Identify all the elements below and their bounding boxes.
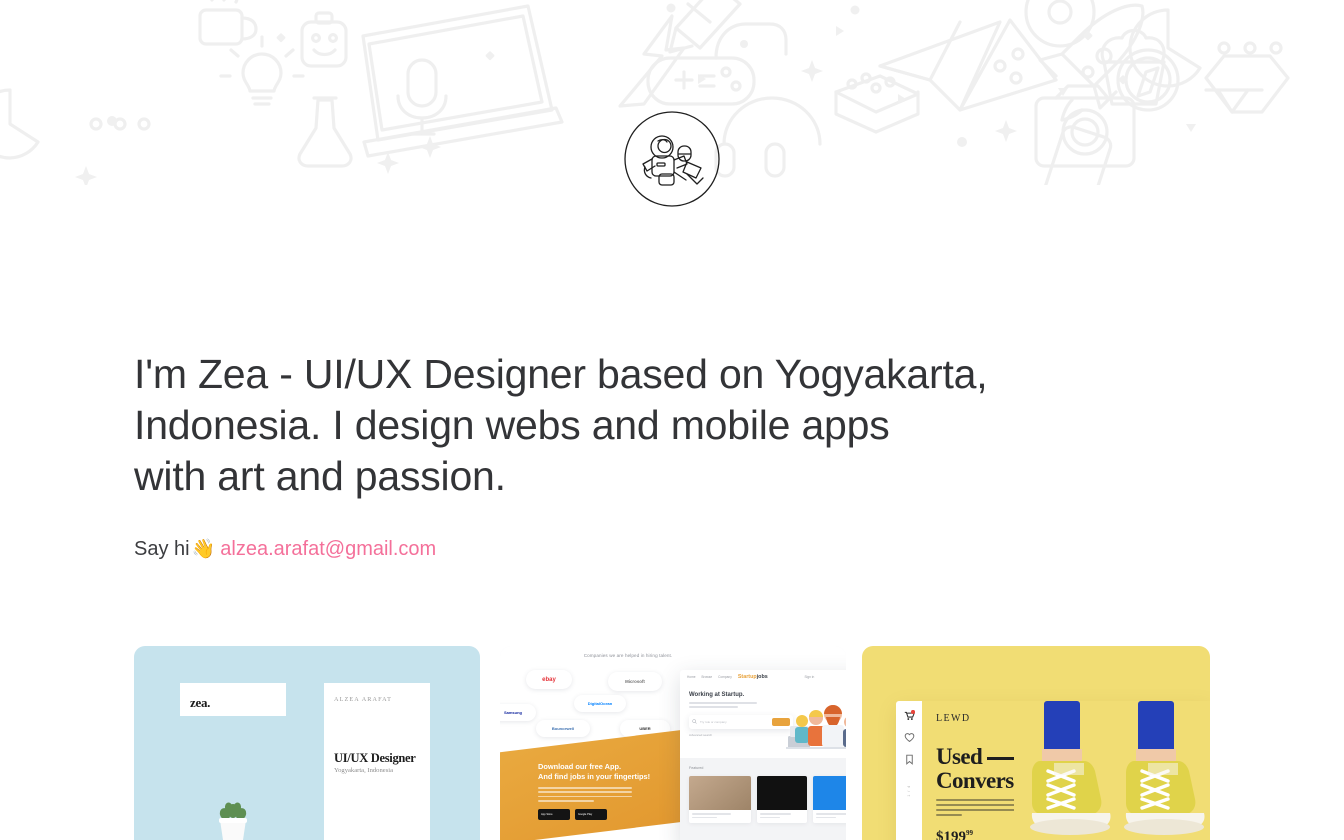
- card1-title: UI/UX Designer: [334, 751, 416, 766]
- people-illustration: [786, 700, 846, 750]
- potted-plant-icon: [210, 798, 256, 840]
- app-download-cta: Download our free App. And find jobs in …: [500, 727, 706, 840]
- intro-block: I'm Zea - UI/UX Designer based on Yogyak…: [134, 349, 1144, 563]
- astronaut-icon: [643, 136, 703, 185]
- coffee-mug-icon: [200, 0, 256, 44]
- portfolio-card-lewd-ecommerce[interactable]: 1 / 4 LEWD Used Converse. $19999 ADD TO …: [862, 646, 1210, 840]
- pacman-icon: [1130, 10, 1281, 86]
- product-hero: LEWD Used Converse. $19999 ADD TO CART: [922, 701, 1210, 840]
- search-placeholder: Try role or company: [700, 720, 769, 724]
- waving-hand-icon: 👋: [192, 539, 216, 560]
- lego-brick-icon: [836, 74, 918, 132]
- browser-navbar: Home Browse Company Startupjobs Sign in: [680, 670, 846, 684]
- startupjobs-browser-window: Home Browse Company Startupjobs Sign in …: [680, 670, 846, 840]
- gamepad-icon: [648, 24, 786, 104]
- nav-item-company[interactable]: Company: [718, 675, 732, 679]
- left-icon-rail: 1 / 4: [896, 701, 922, 840]
- startupjobs-logo: Startupjobs: [738, 674, 768, 680]
- camera-icon: [1036, 86, 1134, 166]
- paper-plane-icon: [880, 22, 1000, 110]
- heart-icon[interactable]: [904, 730, 915, 741]
- app-store-badge[interactable]: App Store: [538, 809, 570, 820]
- company-logo-digitalocean: DigitalOcean: [574, 695, 626, 712]
- astronaut-circle-logo[interactable]: [623, 110, 721, 208]
- diamond-icon: [1206, 56, 1288, 112]
- cta-body-lines: [538, 787, 632, 802]
- startupjobs-landing-sheet: Companies we are helped in hiring talent…: [500, 646, 846, 840]
- portfolio-landing-page: I'm Zea - UI/UX Designer based on Yogyak…: [0, 0, 1344, 840]
- portfolio-card-startupjobs[interactable]: Companies we are helped in hiring talent…: [500, 646, 846, 840]
- featured-card-1[interactable]: [689, 776, 751, 823]
- headphones-icon: [716, 98, 820, 176]
- featured-card-3[interactable]: [813, 776, 846, 823]
- company-logo-bouncewell: Bouncewell: [536, 720, 590, 737]
- page-title: I'm Zea - UI/UX Designer based on Yogyak…: [134, 349, 1144, 502]
- job-search-bar[interactable]: Try role or company: [689, 715, 793, 729]
- lego-head-icon: [302, 13, 346, 66]
- card1-subtitle: Yogyakarta, Indonesia: [334, 767, 393, 774]
- nav-item-home[interactable]: Home: [687, 675, 696, 679]
- featured-label: Featured: [689, 766, 703, 770]
- lewd-brand-logo: LEWD: [936, 713, 970, 724]
- portfolio-card-personal-branding[interactable]: zea.: [134, 646, 480, 840]
- lewd-shop-window: 1 / 4 LEWD Used Converse. $19999 ADD TO …: [896, 701, 1210, 840]
- zea-logo-text: zea.: [190, 695, 210, 711]
- cupcake-icon: [1102, 31, 1164, 105]
- bookmark-icon[interactable]: [904, 752, 915, 763]
- branding-mockup-left: zea.: [180, 683, 286, 840]
- compass-icon: [1118, 50, 1178, 110]
- email-link[interactable]: alzea.arafat@gmail.com: [220, 538, 436, 560]
- contact-prefix: Say hi: [134, 538, 190, 560]
- lightning-bolt-icon: [620, 16, 684, 106]
- slide-pager: 1 / 4: [907, 785, 911, 797]
- laptop-icon: [363, 6, 562, 156]
- pizza-slice-icon: [960, 20, 1056, 110]
- hero-body-lines: [689, 702, 757, 708]
- rocket-icon: [1040, 5, 1143, 120]
- logo-outer-circle: [625, 112, 719, 206]
- nav-item-browse[interactable]: Browse: [702, 675, 713, 679]
- lightbulb-icon: [221, 37, 303, 104]
- company-logo-samsung: Samsung: [500, 704, 536, 721]
- pencil-icon: [670, 0, 740, 52]
- company-logo-microsoft: Microsoft: [608, 672, 662, 691]
- product-price: $19999: [936, 829, 973, 840]
- card2-section-heading: Companies we are helped in hiring talent…: [538, 653, 718, 664]
- featured-card-2[interactable]: [757, 776, 807, 823]
- contact-line: Say hi👋alzea.arafat@gmail.com: [134, 536, 1144, 563]
- featured-section: Featured: [680, 758, 846, 840]
- portfolio-card-grid: zea.: [134, 646, 1210, 840]
- shopping-cart-icon[interactable]: [904, 708, 915, 719]
- vinyl-record-icon: [1026, 0, 1094, 46]
- google-play-badge[interactable]: Google Play: [575, 809, 607, 820]
- browser-hero: Working at Startup. Try role or company …: [680, 684, 846, 758]
- branding-mockup-right: ALZEA ARAFAT UI/UX Designer Yogyakarta, …: [324, 683, 430, 840]
- search-icon: [692, 719, 697, 724]
- company-logo-ebay: ebay: [526, 670, 572, 689]
- flask-icon: [299, 98, 351, 166]
- nav-signin[interactable]: Sign in: [805, 675, 815, 679]
- microphone-icon: [398, 60, 446, 134]
- smartphone-icon: [1037, 125, 1113, 185]
- card1-kicker: ALZEA ARAFAT: [334, 696, 392, 703]
- hero-title: Working at Startup.: [689, 692, 846, 698]
- pacman-icon-2: [0, 90, 149, 158]
- converse-sneakers-photo: [1014, 701, 1210, 840]
